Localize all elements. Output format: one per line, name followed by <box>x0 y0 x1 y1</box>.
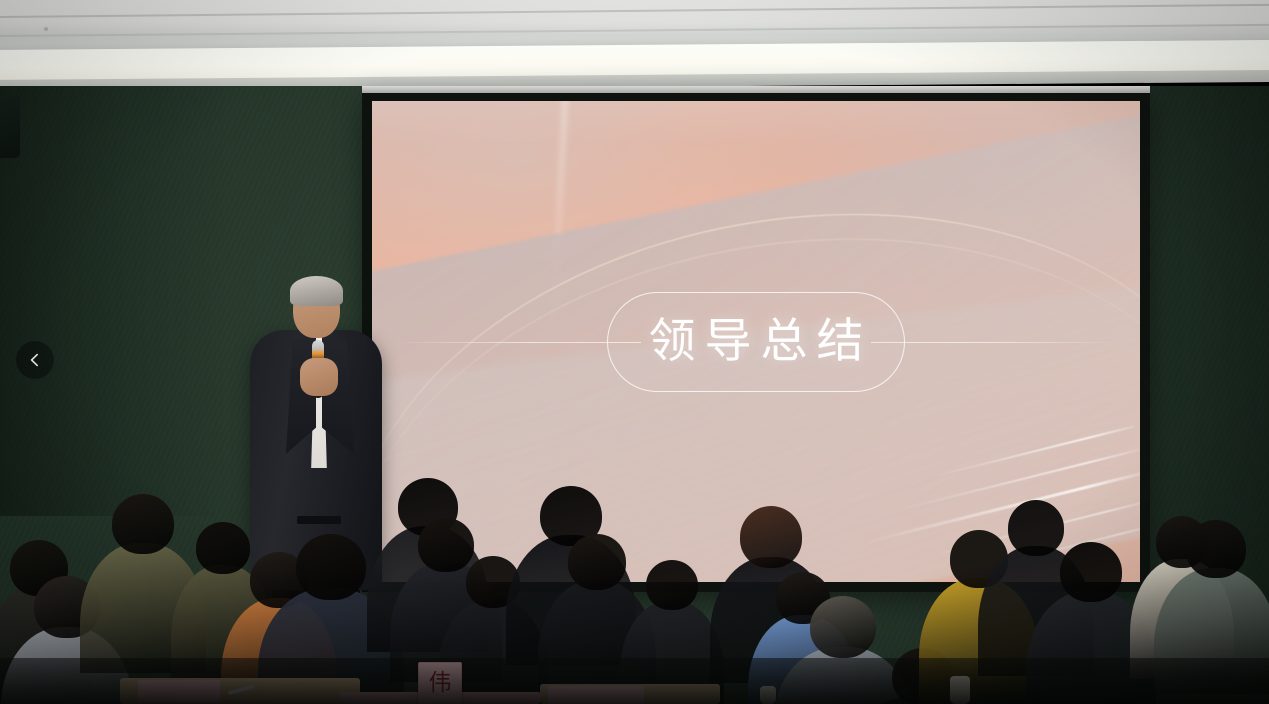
audience-member-head <box>810 596 876 658</box>
audience <box>0 0 1269 704</box>
audience-member-head <box>196 522 250 574</box>
photo-viewer-stage: 领导总结 伟 <box>0 0 1269 704</box>
audience-member-head <box>112 494 174 554</box>
audience-member-head <box>418 518 474 572</box>
audience-member-head <box>296 534 366 600</box>
audience-member-head <box>1008 500 1064 556</box>
audience-member-head <box>740 506 802 568</box>
audience-member-head <box>568 534 626 590</box>
chevron-left-icon <box>27 352 43 368</box>
prev-image-button[interactable] <box>16 341 54 379</box>
audience-member-head <box>1060 542 1122 602</box>
audience-member-head <box>1186 520 1246 578</box>
audience-member-head <box>646 560 698 610</box>
foreground-table-band <box>0 658 1269 704</box>
